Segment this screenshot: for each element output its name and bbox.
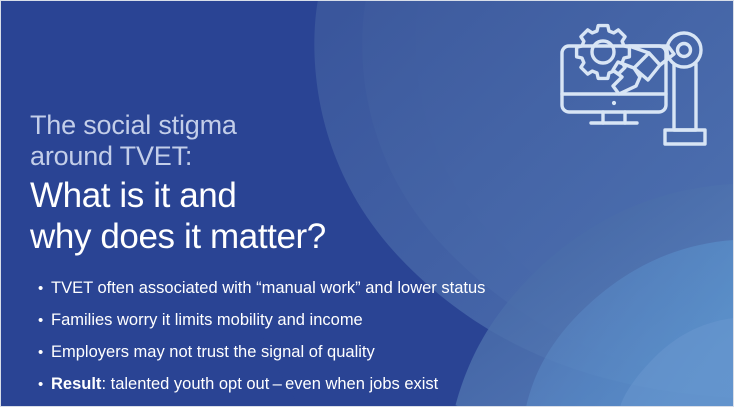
title-kicker: The social stigma around TVET: <box>30 110 326 172</box>
automation-robot-arm-monitor-icon <box>556 22 722 152</box>
title-block: The social stigma around TVET: What is i… <box>30 110 326 257</box>
bullet-list: • TVET often associated with “manual wor… <box>38 278 485 406</box>
bullet-marker-icon: • <box>38 310 51 331</box>
list-item-text: Families worry it limits mobility and in… <box>51 310 363 331</box>
list-item-lead-emphasis: Result <box>51 375 101 393</box>
presentation-slide: The social stigma around TVET: What is i… <box>0 0 734 407</box>
list-item-text: Employers may not trust the signal of qu… <box>51 342 375 363</box>
bullet-marker-icon: • <box>38 374 51 395</box>
list-item-text: : talented youth opt out – even when job… <box>101 375 438 393</box>
list-item-text: TVET often associated with “manual work”… <box>51 278 485 299</box>
slide-content: The social stigma around TVET: What is i… <box>0 0 734 407</box>
bullet-marker-icon: • <box>38 278 51 299</box>
list-item-text-group: Result: talented youth opt out – even wh… <box>51 374 438 395</box>
page-title: What is it and why does it matter? <box>30 175 326 257</box>
list-item: • Employers may not trust the signal of … <box>38 342 485 363</box>
list-item: • TVET often associated with “manual wor… <box>38 278 485 299</box>
list-item: • Families worry it limits mobility and … <box>38 310 485 331</box>
bullet-marker-icon: • <box>38 342 51 363</box>
list-item-result: • Result: talented youth opt out – even … <box>38 374 485 395</box>
